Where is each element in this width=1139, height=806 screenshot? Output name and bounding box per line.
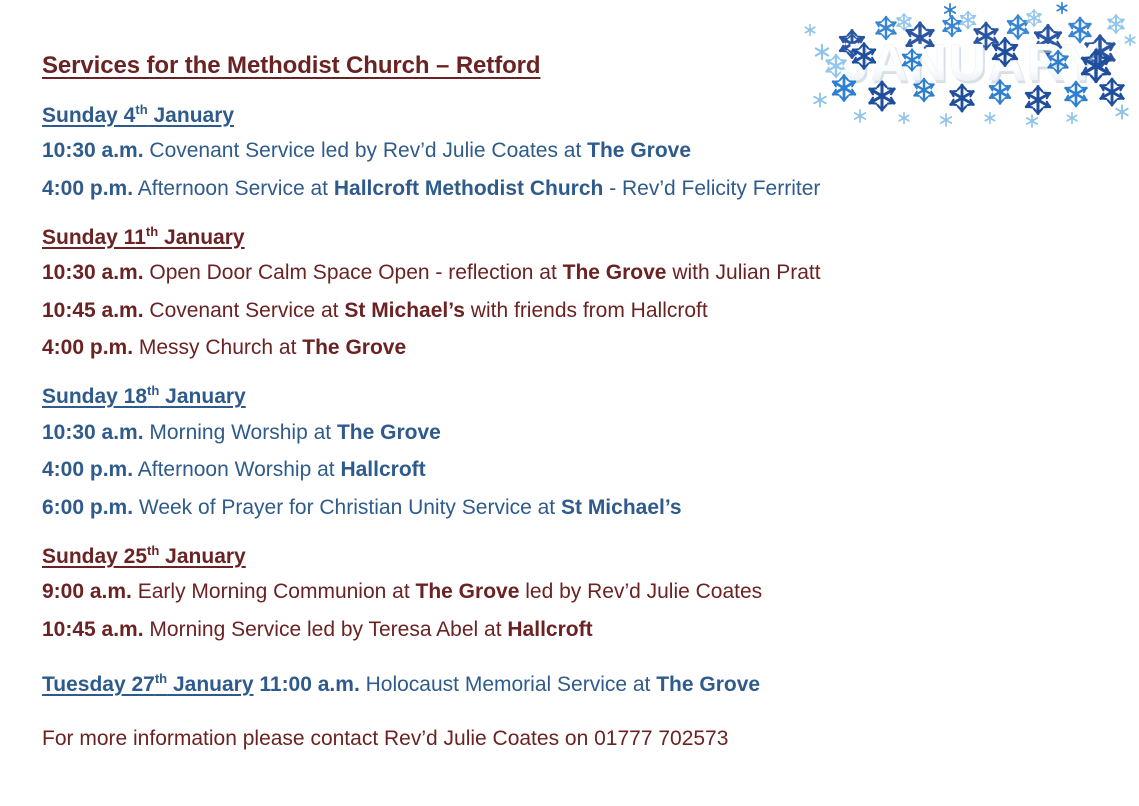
service-line: 10:30 a.m. Open Door Calm Space Open - r…: [42, 254, 1102, 292]
service-description: Afternoon Worship at: [133, 458, 340, 481]
service-time: 10:30 a.m.: [42, 139, 144, 162]
tuesday-date-suffix: January: [167, 673, 253, 696]
schedule-blocks: Sunday 4th January10:30 a.m. Covenant Se…: [42, 102, 1102, 649]
day-heading-suffix: January: [159, 385, 245, 408]
service-time: 6:00 p.m.: [42, 496, 133, 519]
day-heading-prefix: Sunday 4: [42, 104, 135, 127]
service-line: 6:00 p.m. Week of Prayer for Christian U…: [42, 489, 1102, 527]
service-description: Morning Service led by Teresa Abel at: [144, 618, 508, 641]
tuesday-service-line: Tuesday 27th January 11:00 a.m. Holocaus…: [42, 669, 1102, 702]
service-schedule-document: Services for the Methodist Church – Retf…: [42, 52, 1102, 756]
service-line: 10:30 a.m. Morning Worship at The Grove: [42, 414, 1102, 452]
tuesday-date-prefix: Tuesday 27: [42, 673, 155, 696]
service-description: Messy Church at: [133, 336, 302, 359]
tuesday-service-time: 11:00 a.m.: [254, 673, 360, 696]
service-time: 10:45 a.m.: [42, 299, 144, 322]
day-heading-suffix: January: [158, 226, 244, 249]
service-venue: Hallcroft Methodist Church: [334, 177, 604, 200]
service-line: 10:30 a.m. Covenant Service led by Rev’d…: [42, 132, 1102, 170]
service-venue: The Grove: [337, 421, 441, 444]
service-suffix: led by Rev’d Julie Coates: [519, 580, 762, 603]
day-heading: Sunday 4th January: [42, 102, 1102, 130]
service-time: 10:30 a.m.: [42, 421, 144, 444]
schedule-block: Sunday 18th January10:30 a.m. Morning Wo…: [42, 383, 1102, 527]
service-suffix: with friends from Hallcroft: [465, 299, 708, 322]
page-title: Services for the Methodist Church – Retf…: [42, 52, 1102, 80]
service-description: Open Door Calm Space Open - reflection a…: [144, 261, 563, 284]
service-venue: Hallcroft: [340, 458, 425, 481]
service-time: 9:00 a.m.: [42, 580, 132, 603]
service-description: Week of Prayer for Christian Unity Servi…: [133, 496, 561, 519]
service-venue: St Michael’s: [344, 299, 465, 322]
tuesday-service-venue: The Grove: [656, 673, 760, 696]
service-venue: The Grove: [416, 580, 520, 603]
service-venue: The Grove: [302, 336, 406, 359]
service-time: 4:00 p.m.: [42, 336, 133, 359]
day-heading-ordinal: th: [147, 383, 159, 398]
contact-info-line: For more information please contact Rev’…: [42, 723, 1102, 756]
schedule-block: Sunday 4th January10:30 a.m. Covenant Se…: [42, 102, 1102, 208]
service-description: Covenant Service at: [144, 299, 345, 322]
service-description: Covenant Service led by Rev’d Julie Coat…: [144, 139, 588, 162]
service-time: 4:00 p.m.: [42, 458, 133, 481]
service-suffix: - Rev’d Felicity Ferriter: [603, 177, 820, 200]
day-heading-ordinal: th: [146, 224, 158, 239]
service-venue: The Grove: [563, 261, 667, 284]
service-venue: The Grove: [587, 139, 691, 162]
day-heading: Sunday 25th January: [42, 543, 1102, 571]
tuesday-date-heading: Tuesday 27th January: [42, 673, 254, 696]
day-heading: Sunday 11th January: [42, 224, 1102, 252]
tuesday-service-description: Holocaust Memorial Service at: [360, 673, 656, 696]
service-line: 10:45 a.m. Morning Service led by Teresa…: [42, 611, 1102, 649]
schedule-block: Sunday 25th January9:00 a.m. Early Morni…: [42, 543, 1102, 649]
service-time: 10:30 a.m.: [42, 261, 144, 284]
service-venue: Hallcroft: [507, 618, 592, 641]
day-heading: Sunday 18th January: [42, 383, 1102, 411]
service-description: Morning Worship at: [144, 421, 337, 444]
service-line: 4:00 p.m. Afternoon Service at Hallcroft…: [42, 170, 1102, 208]
day-heading-suffix: January: [159, 545, 245, 568]
service-venue: St Michael’s: [561, 496, 682, 519]
service-line: 4:00 p.m. Messy Church at The Grove: [42, 329, 1102, 367]
service-line: 9:00 a.m. Early Morning Communion at The…: [42, 573, 1102, 611]
day-heading-suffix: January: [148, 104, 234, 127]
day-heading-ordinal: th: [147, 543, 159, 558]
day-heading-prefix: Sunday 11: [42, 226, 146, 249]
service-line: 4:00 p.m. Afternoon Worship at Hallcroft: [42, 451, 1102, 489]
service-description: Afternoon Service at: [133, 177, 334, 200]
service-line: 10:45 a.m. Covenant Service at St Michae…: [42, 292, 1102, 330]
service-description: Early Morning Communion at: [132, 580, 416, 603]
day-heading-prefix: Sunday 18: [42, 385, 147, 408]
day-heading-ordinal: th: [135, 102, 147, 117]
service-time: 4:00 p.m.: [42, 177, 133, 200]
schedule-block: Sunday 11th January10:30 a.m. Open Door …: [42, 224, 1102, 368]
service-time: 10:45 a.m.: [42, 618, 144, 641]
service-suffix: with Julian Pratt: [667, 261, 821, 284]
tuesday-date-ordinal: th: [155, 671, 167, 686]
day-heading-prefix: Sunday 25: [42, 545, 147, 568]
